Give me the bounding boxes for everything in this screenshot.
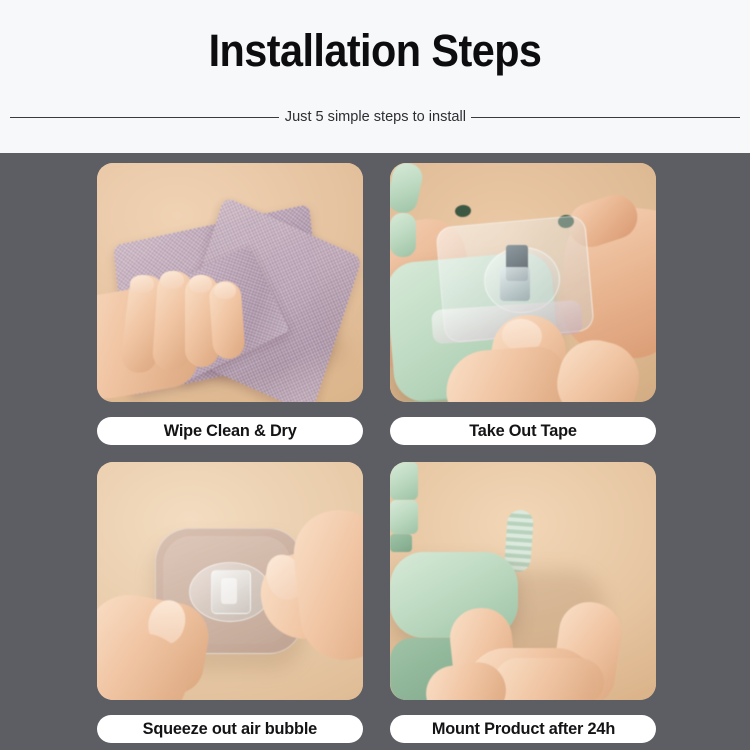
step-1-label: Wipe Clean & Dry [164,421,297,441]
step-1-label-pill: Wipe Clean & Dry [97,417,363,445]
step-1-image [97,163,363,402]
scene-wipe-clean [97,163,363,402]
steps-grid: Wipe Clean & Dry [97,163,655,743]
step-card-1[interactable]: Wipe Clean & Dry [97,163,363,445]
step-card-2[interactable]: Take Out Tape [390,163,656,445]
step-2-label: Take Out Tape [469,421,577,441]
step-3-label-pill: Squeeze out air bubble [97,715,363,743]
steps-panel: Wipe Clean & Dry [0,153,750,750]
installation-steps-page: Installation Steps Just 5 simple steps t… [0,0,750,750]
subtitle-row: Just 5 simple steps to install [10,103,740,131]
scene-mount-product [390,462,656,700]
scene-squeeze-air-bubble [97,462,363,700]
step-4-label-pill: Mount Product after 24h [390,715,656,743]
step-3-image [97,462,363,700]
step-4-label: Mount Product after 24h [431,719,614,739]
divider-line-left [10,117,279,118]
step-card-3[interactable]: Squeeze out air bubble [97,462,363,743]
scene-take-out-tape [390,163,656,402]
step-3-label: Squeeze out air bubble [143,719,317,739]
page-title: Installation Steps [30,22,720,80]
step-card-4[interactable]: Mount Product after 24h [390,462,656,743]
step-2-label-pill: Take Out Tape [390,417,656,445]
divider-line-right [471,117,740,118]
page-subtitle: Just 5 simple steps to install [282,107,469,127]
header: Installation Steps Just 5 simple steps t… [0,0,750,153]
step-2-image [390,163,656,402]
step-4-image [390,462,656,700]
